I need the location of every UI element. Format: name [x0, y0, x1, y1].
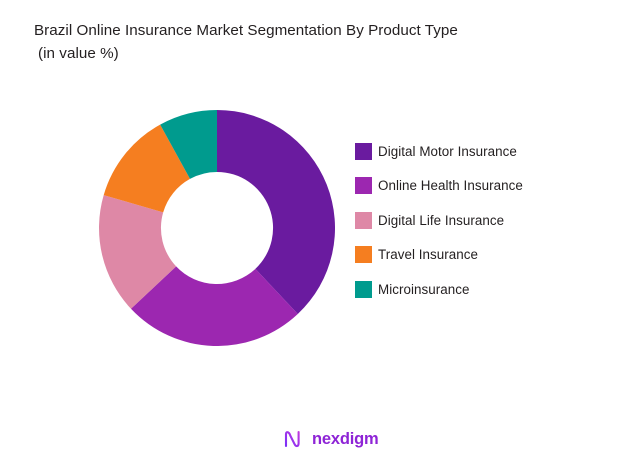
nexdigm-logo: nexdigm [283, 428, 378, 450]
legend-item-digital-life-insurance[interactable]: Digital Life Insurance [355, 210, 605, 230]
legend-item-label: Microinsurance [378, 281, 470, 298]
nexdigm-n-mark-icon [283, 429, 305, 449]
chart-legend: Digital Motor Insurance Online Health In… [355, 141, 605, 314]
page-title-line-1: Brazil Online Insurance Market Segmentat… [34, 19, 604, 42]
legend-swatch-icon [355, 246, 372, 263]
donut-chart [99, 110, 335, 346]
donut-chart-svg [99, 110, 335, 346]
chart-card: Brazil Online Insurance Market Segmentat… [0, 0, 638, 465]
legend-item-digital-motor-insurance[interactable]: Digital Motor Insurance [355, 141, 605, 161]
legend-swatch-icon [355, 212, 372, 229]
legend-swatch-icon [355, 177, 372, 194]
legend-swatch-icon [355, 281, 372, 298]
legend-item-label: Travel Insurance [378, 246, 478, 263]
legend-item-label: Digital Life Insurance [378, 212, 504, 229]
legend-swatch-icon [355, 143, 372, 160]
legend-item-travel-insurance[interactable]: Travel Insurance [355, 245, 605, 265]
legend-item-online-health-insurance[interactable]: Online Health Insurance [355, 176, 605, 196]
legend-item-label: Online Health Insurance [378, 177, 523, 194]
page-title-line-2: (in value %) [34, 42, 604, 65]
legend-item-label: Digital Motor Insurance [378, 143, 517, 160]
nexdigm-wordmark: nexdigm [312, 429, 378, 449]
chart-title: Brazil Online Insurance Market Segmentat… [34, 19, 604, 65]
legend-item-microinsurance[interactable]: Microinsurance [355, 279, 605, 299]
